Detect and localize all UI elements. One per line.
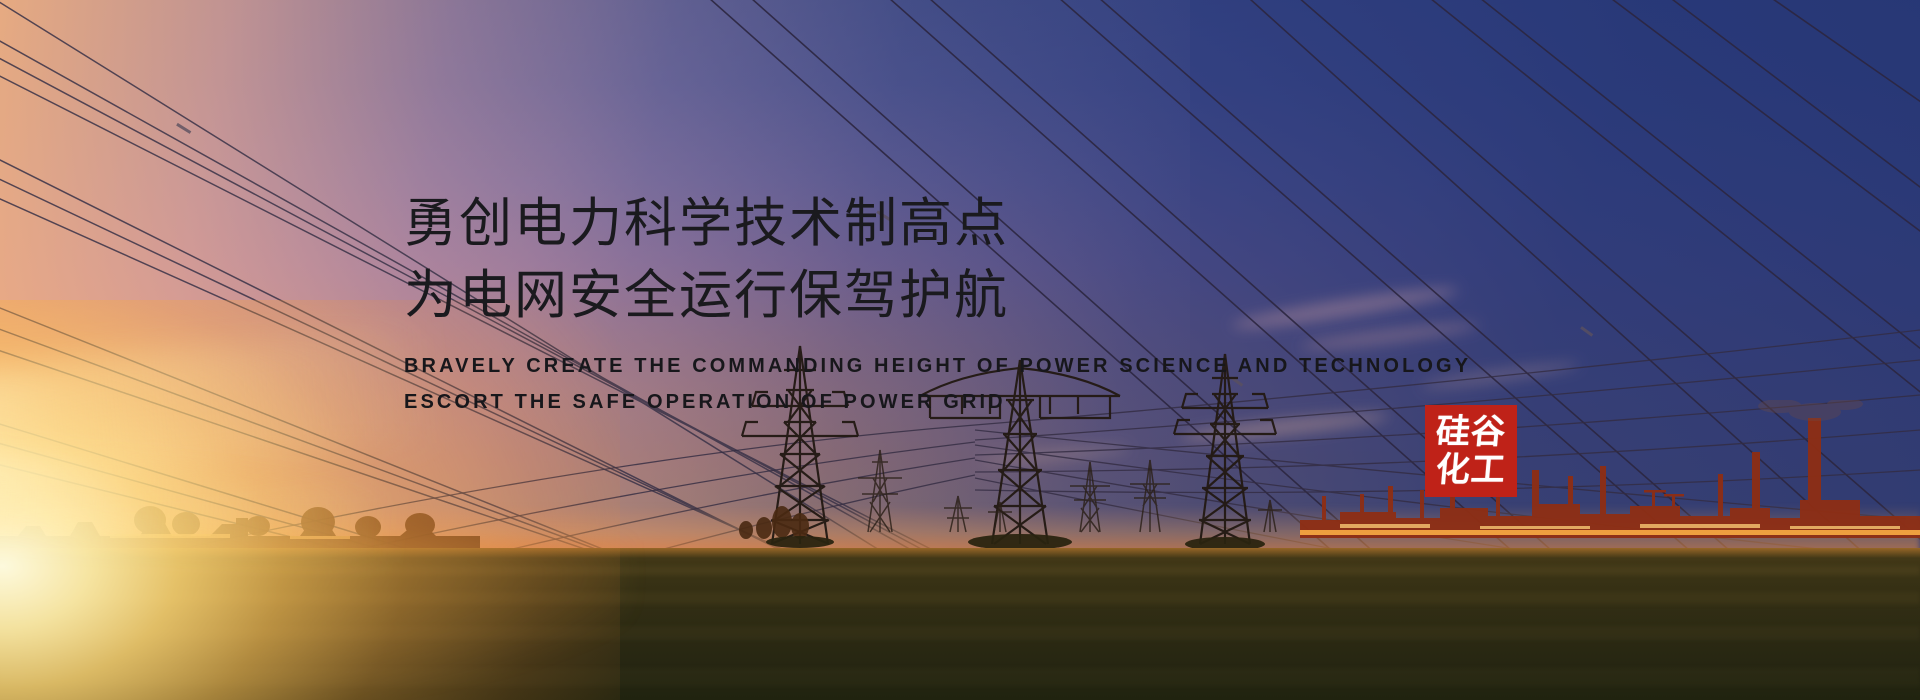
subtitle-line-1: BRAVELY CREATE THE COMMANDING HEIGHT OF … xyxy=(404,348,1471,384)
seal-text-row-1: 硅谷 xyxy=(1434,413,1507,451)
subtitle-line-2: ESCORT THE SAFE OPERATION OF POWER GRID xyxy=(404,384,1471,420)
seal-text-row-2: 化工 xyxy=(1434,451,1507,489)
company-seal-logo[interactable]: 硅谷 化工 xyxy=(1425,405,1517,497)
hero-banner: 勇创电力科学技术制高点 为电网安全运行保驾护航 BRAVELY CREATE T… xyxy=(0,0,1920,700)
headline-line-1: 勇创电力科学技术制高点 xyxy=(404,188,1471,260)
headline-line-2: 为电网安全运行保驾护航 xyxy=(404,260,1471,332)
banner-copy-block: 勇创电力科学技术制高点 为电网安全运行保驾护航 BRAVELY CREATE T… xyxy=(404,188,1471,420)
seal-glyph-stack: 硅谷 化工 xyxy=(1425,405,1517,497)
